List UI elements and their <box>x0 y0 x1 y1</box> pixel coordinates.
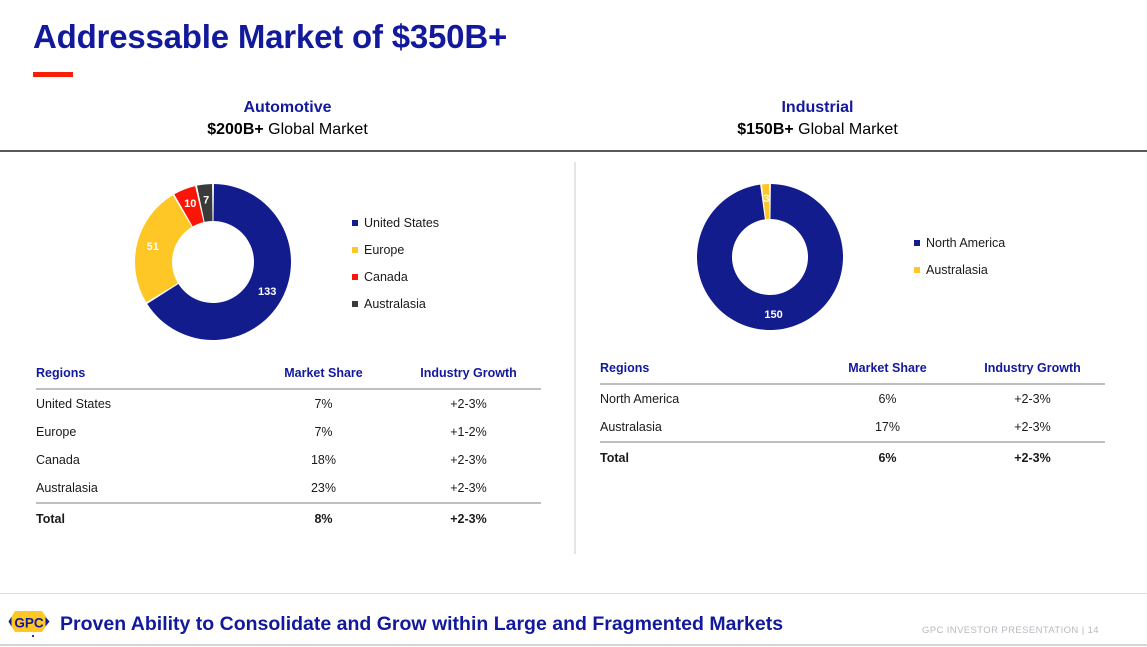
legend-label: United States <box>364 216 439 230</box>
legend-label: Australasia <box>364 297 426 311</box>
table-total-row: Total8%+2-3% <box>36 503 541 533</box>
automotive-market-label: $200B+ Global Market <box>110 120 465 140</box>
table-row: North America6%+2-3% <box>600 384 1105 413</box>
table-row: Canada18%+2-3% <box>36 446 541 474</box>
svg-text:GPC: GPC <box>14 616 44 631</box>
cell-market-share: 17% <box>815 413 960 442</box>
cell-region: United States <box>36 389 251 418</box>
industrial-column-heading: Industrial $150B+ Global Market <box>640 98 995 140</box>
footer-top-rule <box>0 593 1147 594</box>
industrial-category-label: Industrial <box>640 98 995 118</box>
automotive-table: Regions Market Share Industry Growth Uni… <box>36 366 541 533</box>
cell-region: Canada <box>36 446 251 474</box>
donut-slice-label: 10 <box>184 198 196 210</box>
table-row: United States7%+2-3% <box>36 389 541 418</box>
automotive-column-heading: Automotive $200B+ Global Market <box>110 98 465 140</box>
legend-swatch-icon <box>352 247 358 253</box>
cell-industry-growth: +2-3% <box>960 413 1105 442</box>
industrial-donut-svg: 1503 <box>697 184 843 330</box>
legend-swatch-icon <box>352 274 358 280</box>
industrial-market-suffix: Global Market <box>794 121 898 138</box>
legend-swatch-icon <box>352 220 358 226</box>
cell-industry-growth: +2-3% <box>396 474 541 503</box>
industrial-donut-chart: 1503 <box>697 184 843 330</box>
gpc-logo: GPC <box>8 608 54 642</box>
cell-region: Europe <box>36 418 251 446</box>
donut-slice-label: 150 <box>764 309 782 321</box>
cell-market-share: 6% <box>815 384 960 413</box>
cell-market-share: 18% <box>251 446 396 474</box>
header-divider-rule <box>0 150 1147 152</box>
cell-region: North America <box>600 384 815 413</box>
cell-industry-growth: +1-2% <box>396 418 541 446</box>
table-total-row: Total6%+2-3% <box>600 442 1105 472</box>
cell-industry-growth: +2-3% <box>396 389 541 418</box>
automotive-donut-svg: 13351107 <box>135 184 291 340</box>
automotive-market-value: $200B+ <box>207 121 264 138</box>
industrial-table: Regions Market Share Industry Growth Nor… <box>600 361 1105 472</box>
legend-swatch-icon <box>914 267 920 273</box>
cell-industry-growth: +2-3% <box>960 384 1105 413</box>
cell-region: Total <box>600 442 815 472</box>
automotive-category-label: Automotive <box>110 98 465 118</box>
cell-market-share: 7% <box>251 389 396 418</box>
legend-swatch-icon <box>352 301 358 307</box>
cell-market-share: 23% <box>251 474 396 503</box>
industrial-market-value: $150B+ <box>737 121 794 138</box>
legend-item: Australasia <box>352 297 439 311</box>
cell-region: Total <box>36 503 251 533</box>
cell-industry-growth: +2-3% <box>960 442 1105 472</box>
table-header-row: Regions Market Share Industry Growth <box>600 361 1105 384</box>
automotive-market-suffix: Global Market <box>264 121 368 138</box>
industrial-market-label: $150B+ Global Market <box>640 120 995 140</box>
legend-item: North America <box>914 236 1005 250</box>
column-header-regions: Regions <box>36 366 251 389</box>
footer-bottom-rule <box>0 644 1147 646</box>
cell-region: Australasia <box>600 413 815 442</box>
legend-item: Europe <box>352 243 439 257</box>
column-header-industry-growth: Industry Growth <box>396 366 541 389</box>
legend-swatch-icon <box>914 240 920 246</box>
cell-region: Australasia <box>36 474 251 503</box>
donut-slice-label: 51 <box>147 241 159 253</box>
donut-slice-label: 133 <box>258 286 276 298</box>
column-header-market-share: Market Share <box>251 366 396 389</box>
table-row: Europe7%+1-2% <box>36 418 541 446</box>
title-accent-bar <box>33 72 73 77</box>
cell-market-share: 6% <box>815 442 960 472</box>
cell-industry-growth: +2-3% <box>396 503 541 533</box>
donut-slice <box>135 195 192 302</box>
legend-label: North America <box>926 236 1005 250</box>
cell-industry-growth: +2-3% <box>396 446 541 474</box>
legend-label: Canada <box>364 270 408 284</box>
donut-slice-label: 7 <box>203 194 209 206</box>
legend-label: Australasia <box>926 263 988 277</box>
table-row: Australasia17%+2-3% <box>600 413 1105 442</box>
column-header-industry-growth: Industry Growth <box>960 361 1105 384</box>
donut-slice-label: 3 <box>763 193 769 205</box>
gpc-logo-icon: GPC <box>8 608 54 642</box>
column-header-market-share: Market Share <box>815 361 960 384</box>
table-row: Australasia23%+2-3% <box>36 474 541 503</box>
cell-market-share: 7% <box>251 418 396 446</box>
table-header-row: Regions Market Share Industry Growth <box>36 366 541 389</box>
cell-market-share: 8% <box>251 503 396 533</box>
automotive-legend: United StatesEuropeCanadaAustralasia <box>352 216 439 324</box>
legend-label: Europe <box>364 243 404 257</box>
footer-meta: GPC INVESTOR PRESENTATION | 14 <box>922 625 1099 636</box>
legend-item: Canada <box>352 270 439 284</box>
page-title: Addressable Market of $350B+ <box>33 18 507 56</box>
footer-tagline: Proven Ability to Consolidate and Grow w… <box>60 613 783 636</box>
column-divider <box>574 162 576 554</box>
legend-item: Australasia <box>914 263 1005 277</box>
industrial-legend: North AmericaAustralasia <box>914 236 1005 290</box>
automotive-donut-chart: 13351107 <box>135 184 291 340</box>
legend-item: United States <box>352 216 439 230</box>
column-header-regions: Regions <box>600 361 815 384</box>
